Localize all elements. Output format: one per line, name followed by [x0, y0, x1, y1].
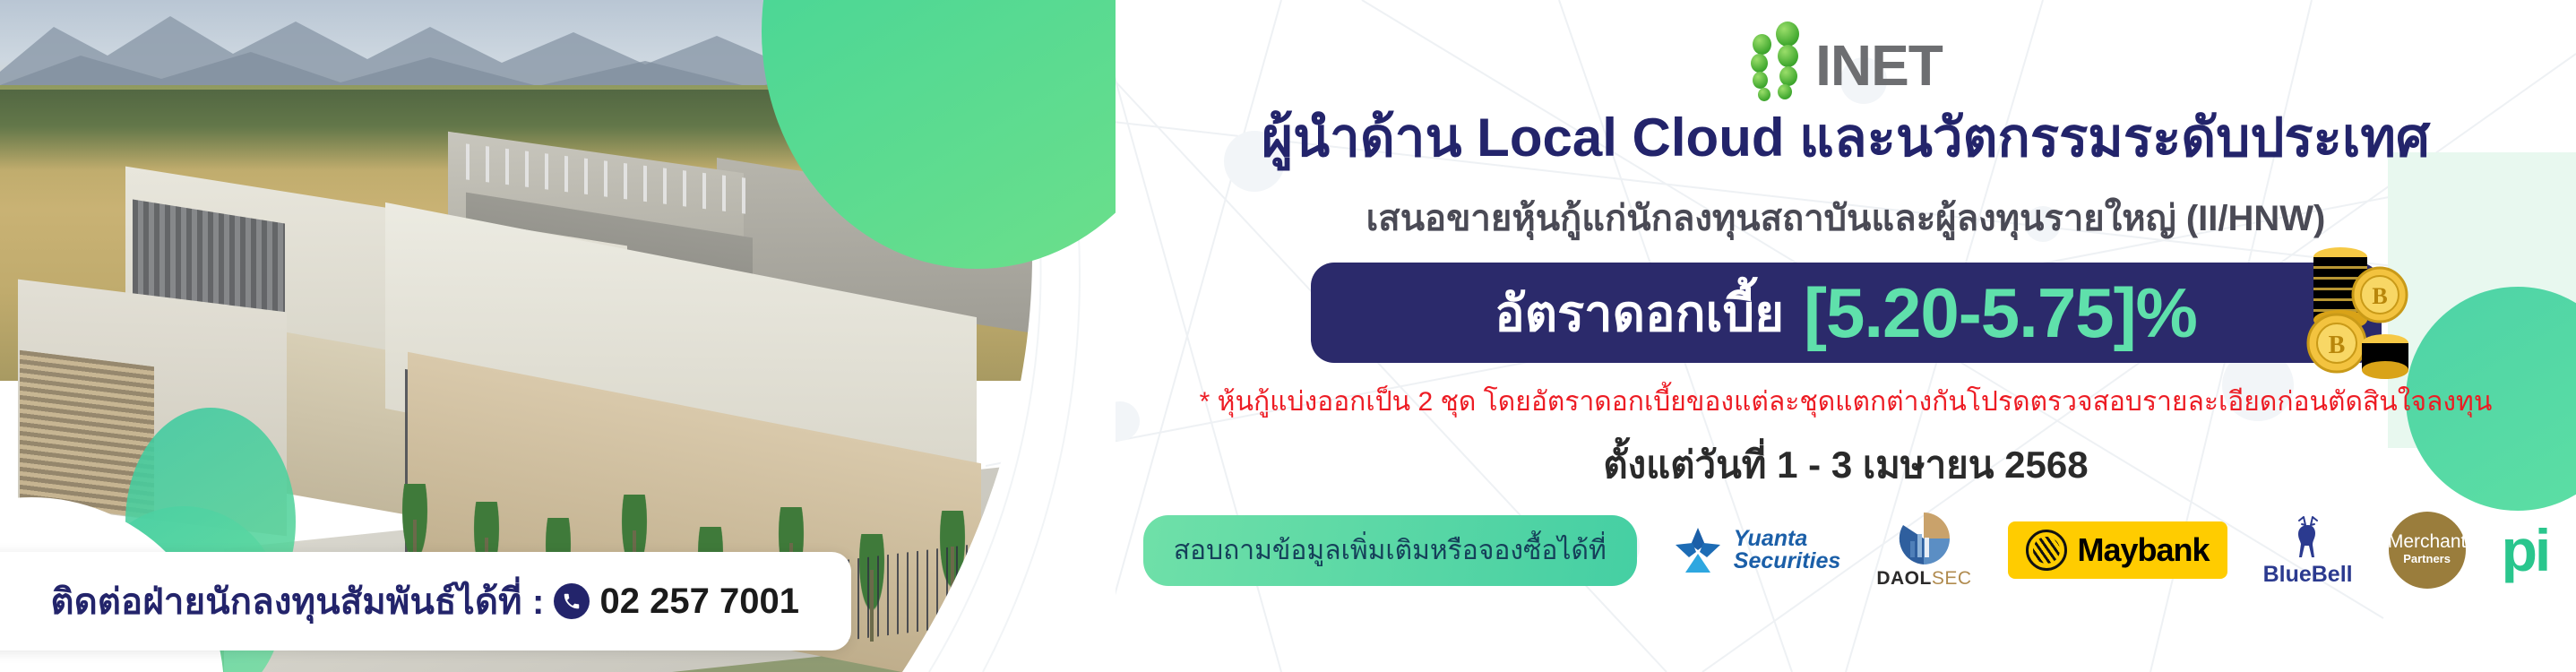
investor-relations-contact-box: ติดต่อฝ่ายนักลงทุนสัมพันธ์ได้ที่ : 02 25… [0, 552, 851, 650]
daol-circle-icon [1896, 511, 1951, 566]
merchant-line2: Partners [2403, 551, 2451, 567]
partner-logo-maybank[interactable]: Maybank [2008, 521, 2227, 579]
banner-content: INET ผู้นำด้าน Local Cloud และนวัตกรรมระ… [1116, 0, 2576, 672]
yuanta-line2: Securities [1734, 550, 1841, 573]
inet-logo: INET [1749, 20, 1943, 90]
daol-word1: DAOL [1876, 568, 1932, 589]
gold-coins-icon: B B [2285, 243, 2419, 382]
bluebell-deer-icon [2287, 513, 2329, 560]
promo-banner: ติดต่อฝ่ายนักลงทุนสัมพันธ์ได้ที่ : 02 25… [0, 0, 2576, 672]
contact-label: ติดต่อฝ่ายนักลงทุนสัมพันธ์ได้ที่ : [51, 573, 545, 630]
page-title: ผู้นำด้าน Local Cloud และนวัตกรรมระดับปร… [1262, 95, 2430, 180]
inet-logo-text: INET [1815, 41, 1943, 90]
maybank-label: Maybank [2078, 531, 2210, 569]
yuanta-line1: Yuanta [1734, 528, 1841, 550]
interest-rate-box: อัตราดอกเบี้ย [5.20-5.75]% B [1311, 263, 2382, 363]
svg-text:B: B [2372, 283, 2387, 309]
disclaimer-text: * หุ้นกู้แบ่งออกเป็น 2 ชุด โดยอัตราดอกเบ… [1200, 381, 2493, 423]
contact-phone-number[interactable]: 02 257 7001 [600, 582, 799, 622]
bluebell-label: BlueBell [2263, 562, 2353, 588]
offering-date-range: ตั้งแต่วันที่ 1 - 3 เมษายน 2568 [1603, 435, 2088, 495]
yuanta-star-icon [1673, 525, 1723, 575]
page-subtitle: เสนอขายหุ้นกู้แก่นักลงทุนสถาบันและผู้ลงท… [1366, 189, 2326, 246]
partner-logo-yuanta-securities[interactable]: Yuanta Securities [1673, 525, 1841, 575]
svg-text:B: B [2328, 332, 2345, 359]
interest-rate-value: [5.20-5.75]% [1804, 272, 2197, 354]
merchant-line1: Merchant [2388, 532, 2467, 551]
enquiry-cta-button[interactable]: สอบถามข้อมูลเพิ่มเติมหรือจองซื้อได้ที่ [1143, 515, 1637, 586]
partner-logo-daol-sec[interactable]: DAOLSEC [1876, 511, 1971, 590]
inet-logo-dots-icon [1749, 20, 1812, 90]
interest-rate-label: อัตราดอกเบี้ย [1495, 273, 1784, 353]
daol-word2: SEC [1932, 568, 1972, 589]
pi-label: pi [2502, 527, 2549, 574]
maybank-tiger-icon [2026, 530, 2067, 571]
partner-logo-merchant-partners[interactable]: Merchant Partners [2389, 512, 2466, 589]
partners-row: สอบถามข้อมูลเพิ่มเติมหรือจองซื้อได้ที่ Y… [1143, 511, 2549, 590]
partner-logo-bluebell[interactable]: BlueBell [2263, 513, 2353, 588]
partner-logo-pi-securities[interactable]: pi [2502, 527, 2549, 574]
phone-icon [554, 583, 590, 619]
